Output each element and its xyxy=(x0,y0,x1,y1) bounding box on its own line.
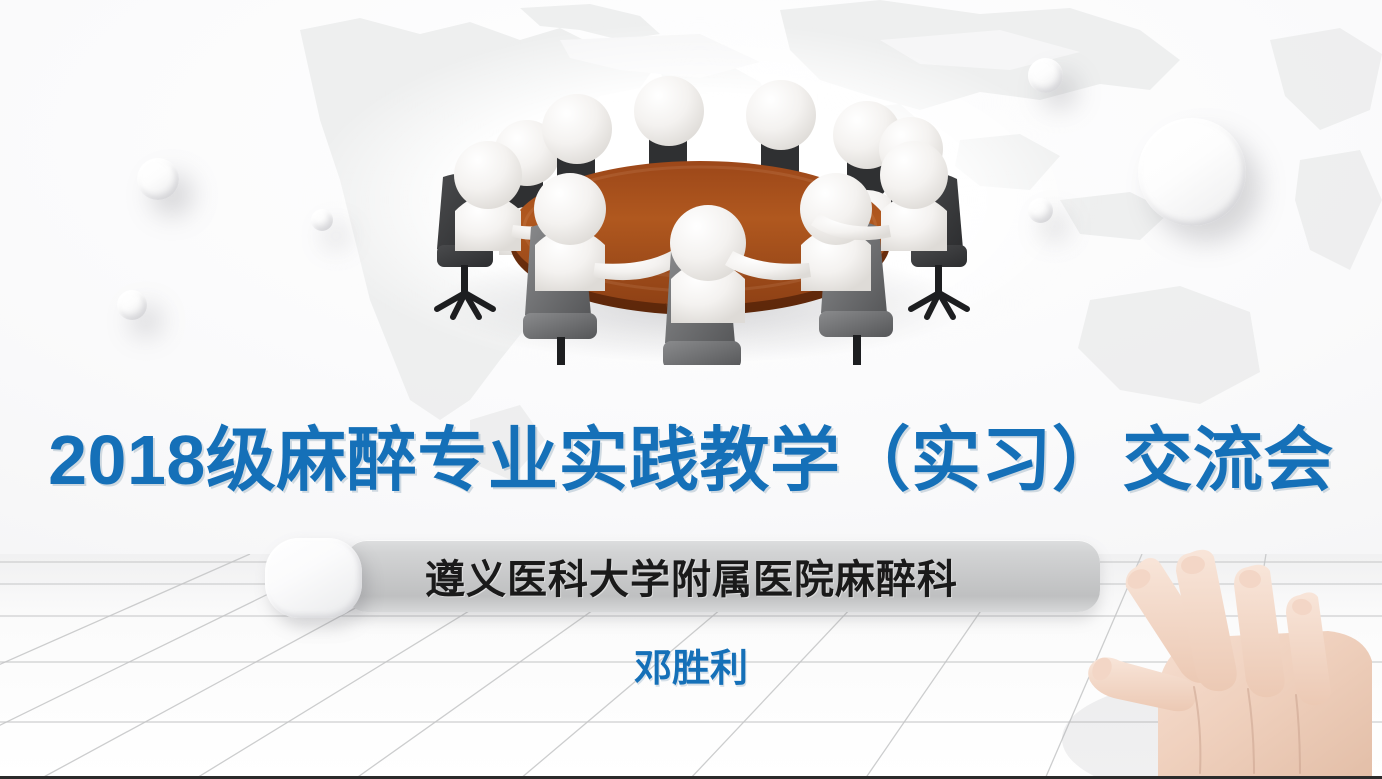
circle-small-right-top xyxy=(1028,58,1063,93)
subtitle-bar: 遵义医科大学附属医院麻醉科 xyxy=(345,540,1100,612)
presenter-name: 邓胜利 xyxy=(0,637,1382,692)
circle-small-left-mid xyxy=(311,209,333,231)
subtitle-badge xyxy=(265,538,362,618)
subtitle-text: 遵义医科大学附属医院麻醉科 xyxy=(425,547,958,605)
circle-medium-left xyxy=(137,158,179,200)
meeting-table-illustration xyxy=(415,55,985,365)
circle-small-left-bottom xyxy=(117,290,147,320)
circle-large-right xyxy=(1138,118,1246,226)
slide-title: 2018级麻醉专业实践教学（实习）交流会 xyxy=(0,404,1382,505)
presentation-slide: 2018级麻醉专业实践教学（实习）交流会 xyxy=(0,0,1382,779)
circle-small-right-bottom xyxy=(1028,198,1053,223)
